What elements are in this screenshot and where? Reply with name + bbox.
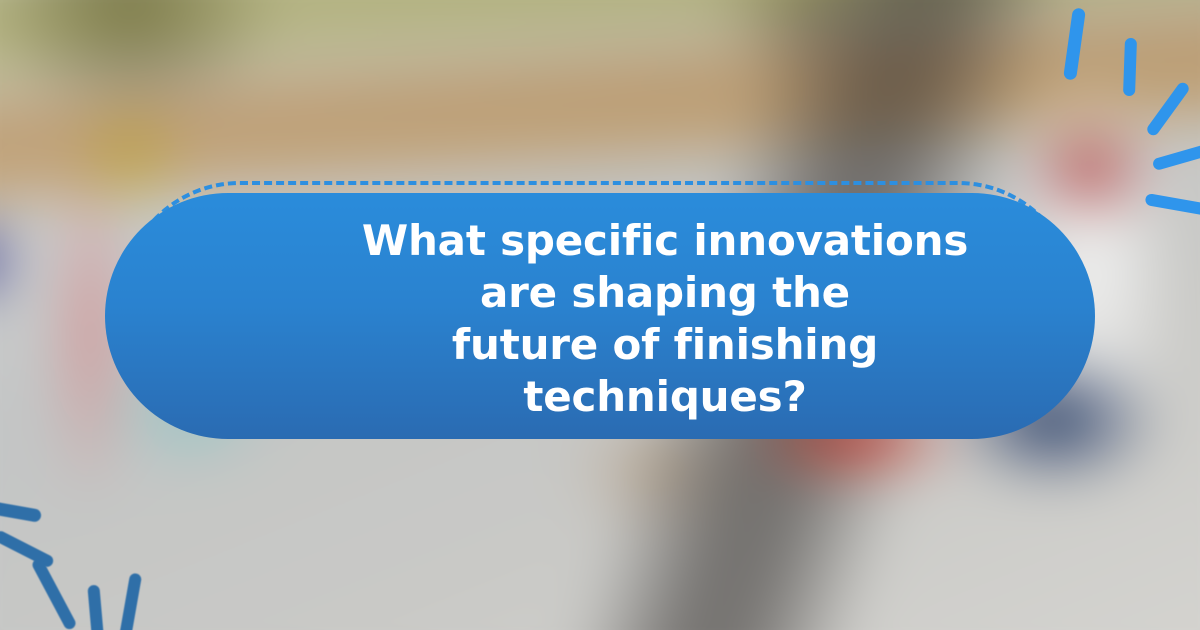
burst-ray	[1123, 38, 1137, 96]
card-body: What specific innovations are shaping th…	[105, 193, 1095, 439]
sparkle-burst-bottom-left-icon	[0, 455, 180, 630]
burst-ray	[118, 573, 142, 630]
question-text: What specific innovations are shaping th…	[285, 215, 1045, 423]
burst-ray	[87, 585, 104, 630]
question-line: are shaping the	[285, 267, 1045, 319]
screenshot-canvas: What specific innovations are shaping th…	[0, 0, 1200, 630]
question-line: What specific innovations	[285, 215, 1045, 267]
burst-ray	[1152, 141, 1200, 171]
question-line: future of finishing	[285, 319, 1045, 371]
burst-ray	[30, 557, 77, 630]
burst-ray	[1063, 7, 1086, 80]
question-line: techniques?	[285, 371, 1045, 423]
burst-ray	[0, 529, 55, 569]
burst-ray	[1145, 80, 1191, 137]
question-card: What specific innovations are shaping th…	[105, 193, 1095, 441]
burst-ray	[0, 497, 42, 523]
burst-ray	[1144, 193, 1200, 217]
